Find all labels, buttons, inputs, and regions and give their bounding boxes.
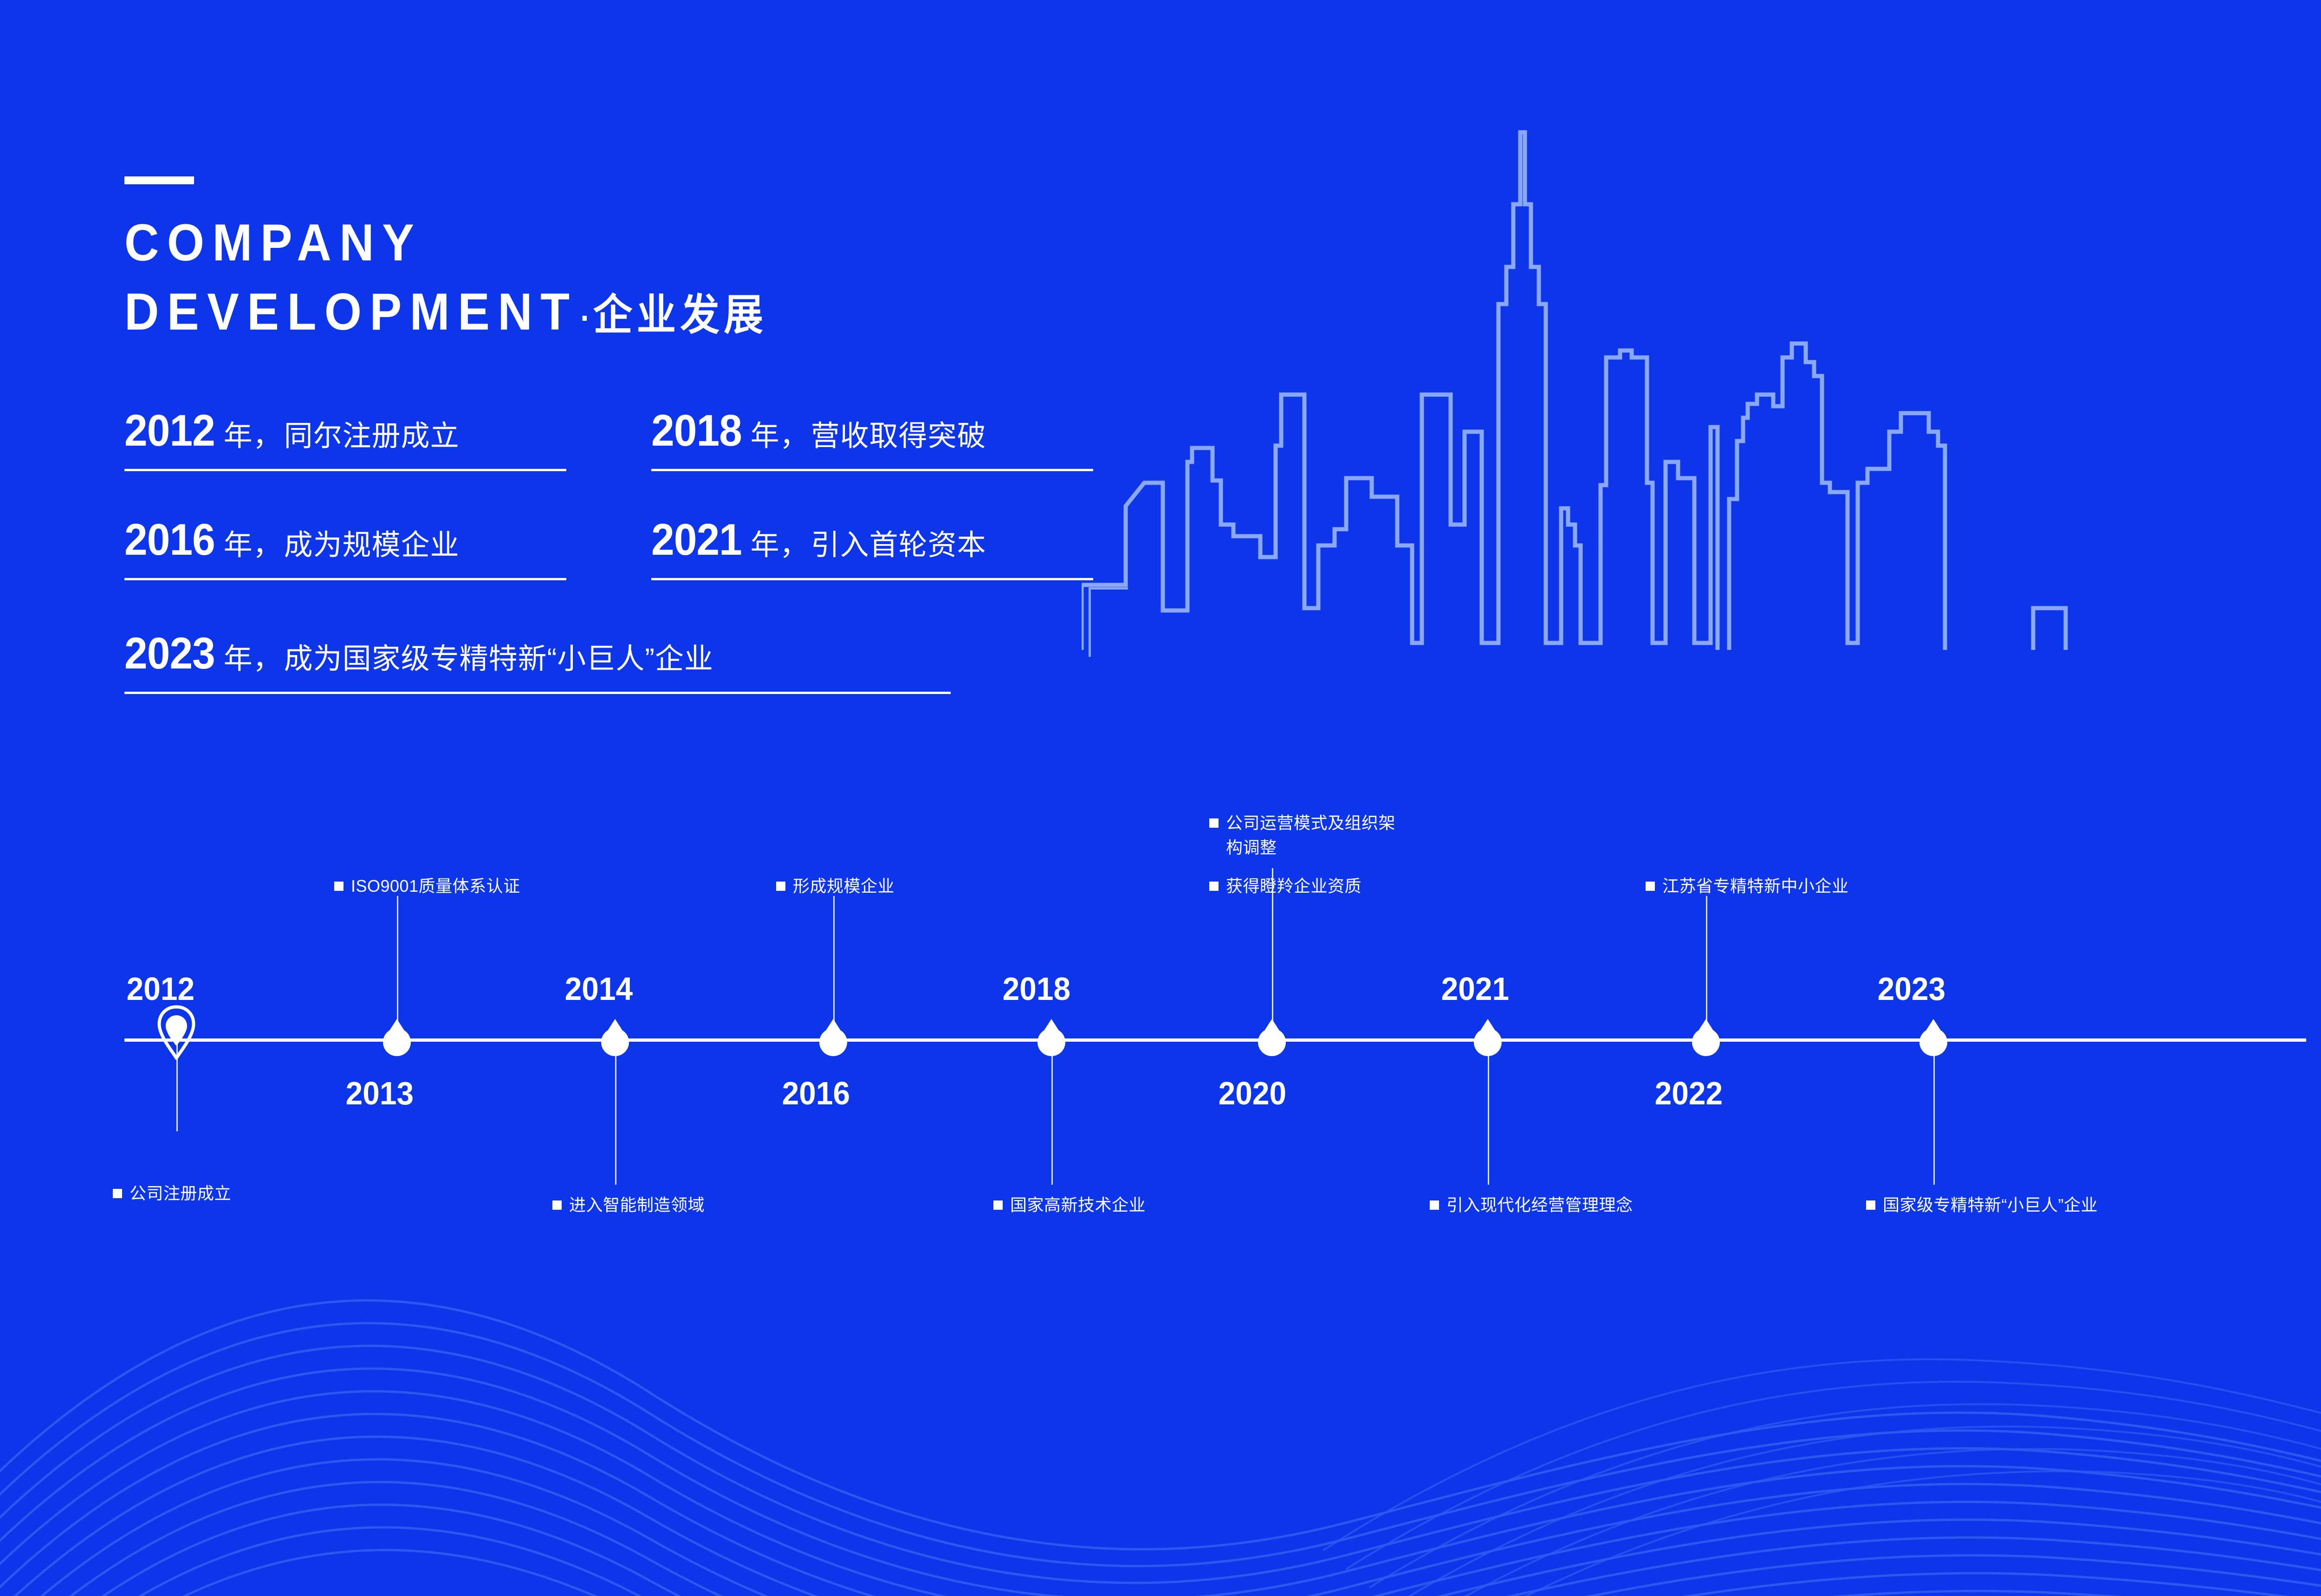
milestone-suffix: 年， [224,529,282,561]
milestone-year: 2021 [651,518,742,562]
milestone-item-2016: 2016年，成为规模企业 [124,518,651,580]
leader-line-2013 [397,896,398,1038]
page-header: COMPANY DEVELOPMENT·企业发展 [124,176,823,347]
leader-line-2018 [1051,1041,1053,1185]
timeline-note-2020-a: 公司运营模式及组织架 [1209,811,1395,835]
milestone-year: 2023 [124,631,215,676]
timeline-note-text: 获得瞪羚企业资质 [1226,876,1361,895]
wave-decoration-graphic [0,1198,2321,1596]
skyline-connector-bracket [1089,587,1128,657]
milestone-item-2023: 2023年，成为国家级专精特新“小巨人”企业 [124,631,1090,694]
bullet-square-icon [1866,1200,1875,1210]
timeline-note-2023-bottom: 国家级专精特新“小巨人”企业 [1866,1193,2098,1217]
timeline-note-2018-bottom: 国家高新技术企业 [993,1193,1146,1217]
milestone-year: 2018 [651,409,742,453]
slide-canvas: COMPANY DEVELOPMENT·企业发展 2012年，同尔注册成立 20… [0,0,2321,1596]
timeline-year-2016: 2016 [782,1075,850,1112]
milestone-underline [651,469,1093,471]
timeline-note-2012-bottom: 公司注册成立 [113,1181,231,1206]
bullet-square-icon [334,882,344,891]
milestone-underline [124,692,951,694]
milestone-row: 2016年，成为规模企业 2021年，引入首轮资本 [124,518,1146,580]
milestone-underline [651,578,1093,580]
timeline-note-text: 引入现代化经营管理理念 [1446,1195,1633,1214]
timeline-note-text: 公司运营模式及组织架 [1226,813,1395,832]
bullet-square-icon [1209,818,1219,828]
timeline-note-text: ISO9001质量体系认证 [351,876,520,895]
milestone-description: 成为规模企业 [284,529,460,561]
timeline-year-2020: 2020 [1219,1075,1286,1112]
milestone-suffix: 年， [751,420,809,452]
milestone-list: 2012年，同尔注册成立 2018年，营收取得突破 2016年，成为规模企业 [124,409,1146,694]
leader-line-2016 [833,896,835,1038]
timeline-note-text: 江苏省专精特新中小企业 [1662,876,1849,895]
milestone-text: 2023年，成为国家级专精特新“小巨人”企业 [124,631,1090,692]
timeline-note-2020-a-cont: 构调整 [1226,836,1277,860]
company-timeline: 2012 2014 2018 2021 2023 2013 2016 2020 … [0,785,2321,1249]
timeline-year-2012: 2012 [127,970,194,1007]
milestone-underline [124,578,566,580]
milestone-text: 2018年，营收取得突破 [651,409,1115,469]
timeline-note-text: 国家级专精特新“小巨人”企业 [1883,1195,2098,1214]
timeline-year-2014: 2014 [565,970,633,1007]
bullet-square-icon [993,1200,1003,1210]
milestone-description: 同尔注册成立 [284,420,460,452]
bullet-square-icon [1646,882,1655,891]
leader-line-2014 [615,1041,616,1185]
timeline-note-2014-bottom: 进入智能制造领域 [552,1193,705,1217]
timeline-note-text: 国家高新技术企业 [1010,1195,1146,1214]
leader-line-2023 [1933,1041,1935,1185]
title-separator-dot: · [578,300,593,337]
milestone-item-2021: 2021年，引入首轮资本 [651,518,1115,580]
city-skyline-graphic [1082,116,2321,650]
header-accent-rule [124,176,194,184]
timeline-note-text: 构调整 [1226,838,1277,857]
timeline-note-text: 形成规模企业 [793,876,895,895]
timeline-note-2022-top: 江苏省专精特新中小企业 [1646,874,1849,898]
leader-line-2012 [176,1041,178,1131]
bullet-square-icon [113,1189,122,1198]
milestone-description: 引入首轮资本 [811,529,986,561]
milestone-item-2018: 2018年，营收取得突破 [651,409,1115,471]
milestone-description: 营收取得突破 [811,420,986,452]
timeline-year-2013: 2013 [346,1075,414,1112]
bullet-square-icon [776,882,785,891]
milestone-row: 2023年，成为国家级专精特新“小巨人”企业 [124,631,1146,694]
bullet-square-icon [1430,1200,1439,1210]
milestone-item-2012: 2012年，同尔注册成立 [124,409,651,471]
timeline-axis [124,1038,2306,1042]
milestone-text: 2016年，成为规模企业 [124,518,651,578]
page-title-cn: 企业发展 [593,292,767,339]
milestone-underline [124,469,566,471]
milestone-suffix: 年， [751,529,809,561]
timeline-note-2016-top: 形成规模企业 [776,874,895,898]
bullet-square-icon [552,1200,562,1210]
page-title-en-line2: DEVELOPMENT [124,283,578,341]
timeline-note-text: 公司注册成立 [130,1184,231,1203]
timeline-note-2013: ISO9001质量体系认证 [334,874,520,898]
timeline-note-2021-bottom: 引入现代化经营管理理念 [1430,1193,1633,1217]
milestone-text: 2012年，同尔注册成立 [124,409,651,469]
milestone-year: 2016 [124,518,215,562]
leader-line-2022 [1706,896,1707,1038]
timeline-year-2018: 2018 [1003,970,1070,1007]
timeline-note-2020-b: 获得瞪羚企业资质 [1209,874,1361,898]
leader-line-2021 [1488,1041,1489,1185]
milestone-text: 2021年，引入首轮资本 [651,518,1115,578]
milestone-year: 2012 [124,409,215,453]
page-title-line2: DEVELOPMENT·企业发展 [124,278,767,347]
bullet-square-icon [1209,882,1219,891]
milestone-suffix: 年， [224,643,282,675]
milestone-suffix: 年， [224,420,282,452]
milestone-description: 成为国家级专精特新“小巨人”企业 [284,643,713,675]
page-title-en-line1: COMPANY [124,208,767,278]
timeline-year-2023: 2023 [1878,970,1945,1007]
timeline-year-2022: 2022 [1655,1075,1723,1112]
timeline-note-text: 进入智能制造领域 [569,1195,705,1214]
timeline-year-2021: 2021 [1441,970,1509,1007]
milestone-row: 2012年，同尔注册成立 2018年，营收取得突破 [124,409,1146,471]
